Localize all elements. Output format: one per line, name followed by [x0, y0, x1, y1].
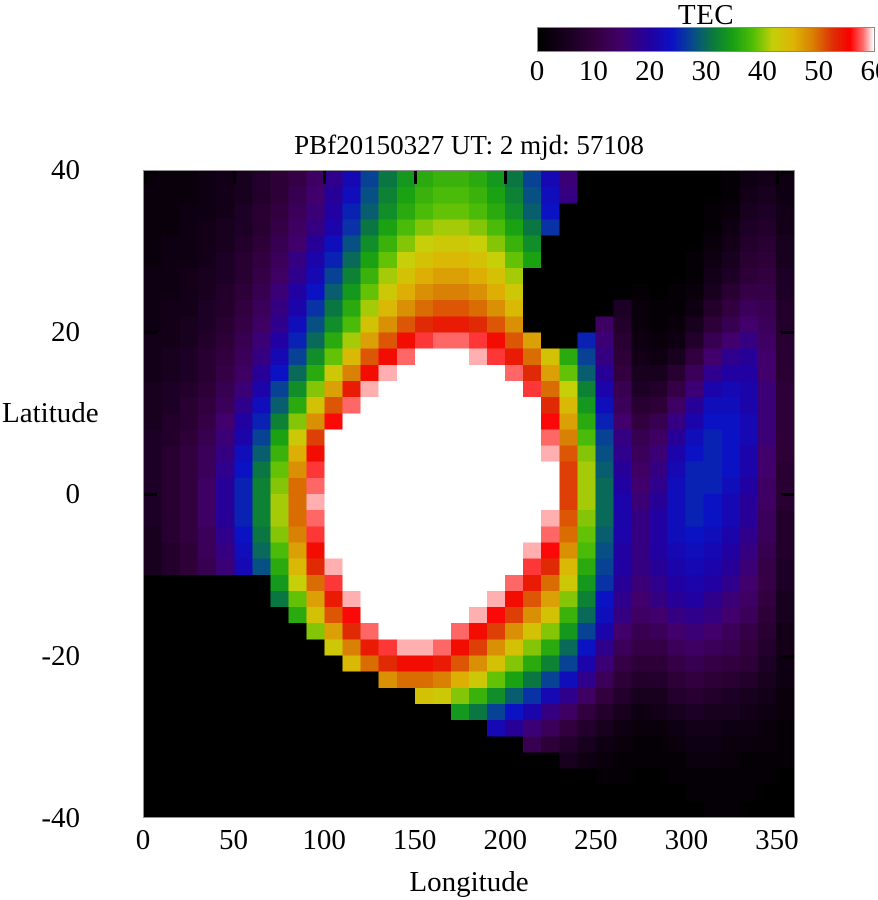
colorbar-strip-frame [537, 27, 875, 52]
colorbar-title: TEC [537, 0, 875, 30]
y-tick-label-40: 40 [0, 155, 80, 185]
x-tick-label-350: 350 [722, 824, 832, 856]
colorbar-tick-30: 30 [676, 54, 736, 88]
colorbar-tick-40: 40 [732, 54, 792, 88]
colorbar-tick-20: 20 [620, 54, 680, 88]
colorbar-tick-10: 10 [563, 54, 623, 88]
colorbar-tick-60: 60 [845, 54, 878, 88]
plot-title: PBf20150327 UT: 2 mjd: 57108 [143, 129, 795, 161]
y-tick-label-20: 20 [0, 317, 80, 347]
tec-heatmap [144, 171, 794, 817]
y-tick-label--20: -20 [0, 641, 80, 671]
colorbar-panel: TEC 0102030405060 [0, 0, 878, 100]
y-tick-label--40: -40 [0, 803, 80, 833]
tec-map-panel: PBf20150327 UT: 2 mjd: 57108 40200-20-40… [0, 110, 878, 900]
x-axis-title: Longitude [143, 866, 795, 898]
colorbar-tick-labels: 0102030405060 [537, 54, 875, 88]
y-tick-label-0: 0 [0, 479, 80, 509]
colorbar-gradient [538, 28, 874, 51]
heatmap-plot-area [143, 170, 795, 818]
y-axis-title: Latitude [2, 397, 134, 429]
colorbar-tick-0: 0 [507, 54, 567, 88]
colorbar-tick-50: 50 [789, 54, 849, 88]
